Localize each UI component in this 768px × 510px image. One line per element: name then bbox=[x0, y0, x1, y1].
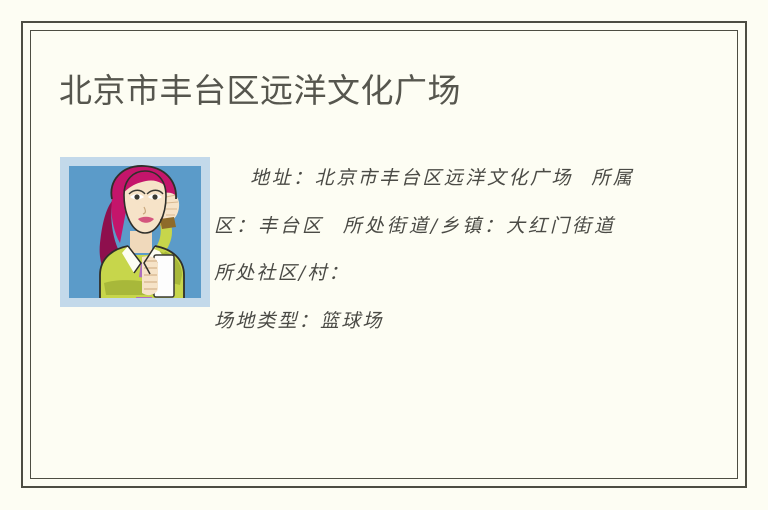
community-label: 所处社区/村： bbox=[214, 262, 350, 284]
street-label: 所处街道/乡镇： bbox=[342, 215, 506, 237]
address-value: 北京市丰台区远洋文化广场 bbox=[315, 167, 573, 189]
venue-type-value: 篮球场 bbox=[320, 310, 384, 332]
address-label: 地址： bbox=[250, 167, 315, 189]
page-title: 北京市丰台区远洋文化广场 bbox=[59, 71, 461, 111]
venue-details-text: 地址：北京市丰台区远洋文化广场所属区：丰台区所处街道/乡镇：大红门街道所处社区/… bbox=[214, 155, 634, 345]
venue-content-row: 地址：北京市丰台区远洋文化广场所属区：丰台区所处街道/乡镇：大红门街道所处社区/… bbox=[31, 149, 737, 478]
venue-card-outer-frame: 北京市丰台区远洋文化广场 bbox=[21, 21, 747, 488]
venue-type-label: 场地类型： bbox=[214, 310, 320, 332]
venue-card-inner-frame: 北京市丰台区远洋文化广场 bbox=[30, 30, 738, 479]
venue-illustration-image bbox=[60, 157, 210, 307]
street-value: 大红门街道 bbox=[506, 215, 616, 237]
district-value: 丰台区 bbox=[258, 215, 324, 237]
